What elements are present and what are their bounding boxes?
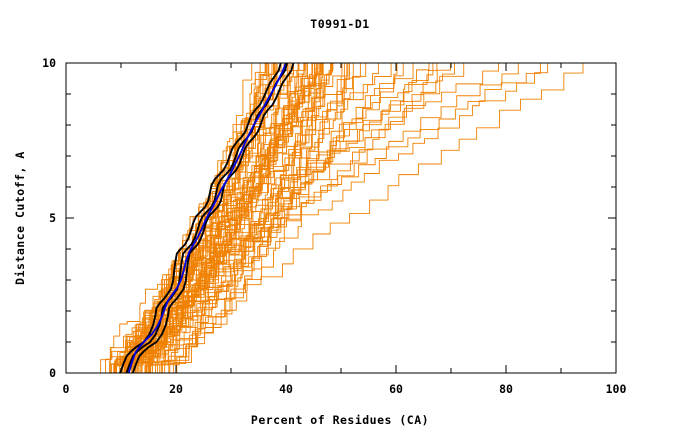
chart-title: T0991-D1 bbox=[310, 17, 369, 31]
x-tick-label: 100 bbox=[606, 382, 627, 396]
y-tick-label: 5 bbox=[49, 211, 56, 225]
y-tick-label: 10 bbox=[42, 56, 56, 70]
chart-figure: T0991-D1 Distance Cutoff, A Percent of R… bbox=[0, 0, 680, 440]
x-tick-label: 0 bbox=[63, 382, 70, 396]
x-tick-label: 60 bbox=[389, 382, 403, 396]
x-axis-label: Percent of Residues (CA) bbox=[251, 413, 429, 427]
x-tick-label: 80 bbox=[499, 382, 513, 396]
x-tick-label: 20 bbox=[169, 382, 183, 396]
chart-canvas: T0991-D1 Distance Cutoff, A Percent of R… bbox=[0, 0, 680, 440]
chart-background bbox=[0, 0, 680, 440]
y-axis-label: Distance Cutoff, A bbox=[13, 151, 27, 285]
x-tick-label: 40 bbox=[279, 382, 293, 396]
y-tick-label: 0 bbox=[49, 366, 56, 380]
